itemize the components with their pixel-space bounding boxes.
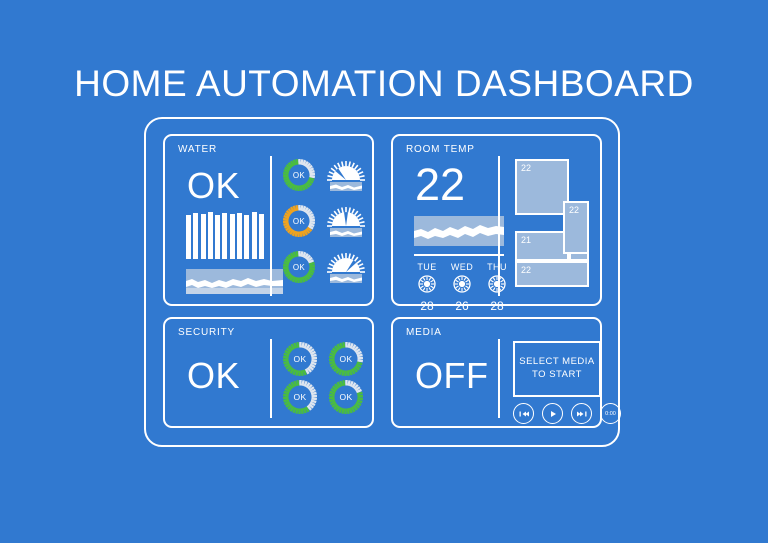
- water-bar: [222, 213, 227, 259]
- forecast-day: THU: [484, 262, 510, 272]
- water-dial-2-icon[interactable]: [325, 204, 367, 240]
- water-dial-1-icon[interactable]: [325, 158, 367, 194]
- gauge-label: OK: [328, 379, 364, 415]
- forecast-item: WED26: [449, 262, 475, 313]
- water-bar-chart: [186, 211, 264, 259]
- media-screen[interactable]: SELECT MEDIA TO START: [513, 341, 601, 397]
- panel-security[interactable]: SECURITY OK OKOKOKOK: [163, 317, 374, 428]
- water-bar: [186, 215, 191, 259]
- water-gauge-3[interactable]: OK: [282, 250, 316, 284]
- room-temp-hdivider: [414, 254, 504, 256]
- water-gauge-2[interactable]: OK: [282, 204, 316, 238]
- panel-room-temp[interactable]: ROOM TEMP 22 TUE28WED26THU28 22 22 22 21…: [391, 134, 602, 306]
- sun-icon: [449, 275, 475, 298]
- security-divider: [270, 339, 272, 418]
- room-center-small[interactable]: 22: [563, 201, 589, 254]
- water-bar: [215, 215, 220, 259]
- media-screen-text: SELECT MEDIA TO START: [515, 356, 599, 382]
- water-wave-svg: [186, 269, 283, 294]
- water-bar: [193, 213, 198, 259]
- media-status: OFF: [415, 358, 488, 394]
- panel-security-label: SECURITY: [178, 327, 235, 338]
- room-temp-divider: [498, 156, 500, 296]
- dashboard-frame: WATER OK OKOKOK ROOM TEMP 22 TUE28WE: [144, 117, 620, 447]
- room-bottom-strip[interactable]: 22: [515, 261, 589, 287]
- gauge-label: OK: [282, 250, 316, 284]
- forecast-item: THU28: [484, 262, 510, 313]
- water-divider: [270, 156, 272, 296]
- water-bar: [259, 214, 264, 259]
- elapsed-time-button[interactable]: 0:00: [600, 403, 621, 424]
- room-temp-floorplan[interactable]: 22 22 22 21 22: [515, 159, 589, 287]
- water-gauge-1[interactable]: OK: [282, 158, 316, 192]
- media-controls: 0:00: [513, 403, 621, 424]
- forecast-day: TUE: [414, 262, 440, 272]
- elapsed-time-label: 0:00: [605, 411, 616, 417]
- page-title: HOME AUTOMATION DASHBOARD: [0, 63, 768, 105]
- panel-media[interactable]: MEDIA OFF SELECT MEDIA TO START 0:00: [391, 317, 602, 428]
- panel-water[interactable]: WATER OK OKOKOK: [163, 134, 374, 306]
- next-track-button[interactable]: [571, 403, 592, 424]
- forecast-value: 28: [414, 299, 440, 313]
- gauge-label: OK: [282, 379, 318, 415]
- room-bottom-left[interactable]: 21: [515, 231, 569, 261]
- room-temp-wave-svg: [414, 216, 504, 246]
- security-status: OK: [187, 358, 240, 394]
- security-gauge-1[interactable]: OK: [282, 341, 318, 377]
- skip-back-icon: [518, 409, 530, 419]
- security-gauge-4[interactable]: OK: [328, 379, 364, 415]
- water-dial-3-icon[interactable]: [325, 250, 367, 286]
- play-icon: [548, 409, 558, 419]
- previous-track-button[interactable]: [513, 403, 534, 424]
- media-divider: [498, 339, 500, 418]
- security-gauge-3[interactable]: OK: [282, 379, 318, 415]
- panel-water-label: WATER: [178, 144, 217, 155]
- gauge-label: OK: [282, 204, 316, 238]
- room-temp-value: 22: [415, 162, 465, 207]
- room-temp-forecast: TUE28WED26THU28: [414, 262, 510, 313]
- security-gauge-2[interactable]: OK: [328, 341, 364, 377]
- panel-room-temp-label: ROOM TEMP: [406, 144, 475, 155]
- forecast-value: 26: [449, 299, 475, 313]
- forecast-item: TUE28: [414, 262, 440, 313]
- forecast-day: WED: [449, 262, 475, 272]
- gauge-label: OK: [282, 158, 316, 192]
- room-temp-wave-chart: [414, 216, 504, 246]
- water-status: OK: [187, 168, 240, 204]
- water-wave-chart: [186, 269, 283, 294]
- water-bar: [244, 215, 249, 259]
- sun-icon: [484, 275, 510, 298]
- skip-forward-icon: [576, 409, 588, 419]
- sun-icon: [414, 275, 440, 298]
- water-bar: [230, 214, 235, 259]
- water-bar: [208, 212, 213, 259]
- water-bar: [201, 214, 206, 259]
- gauge-label: OK: [282, 341, 318, 377]
- forecast-value: 28: [484, 299, 510, 313]
- water-bar: [237, 213, 242, 259]
- water-bar: [252, 212, 257, 259]
- room-top-left[interactable]: 22: [515, 159, 569, 215]
- play-button[interactable]: [542, 403, 563, 424]
- panel-media-label: MEDIA: [406, 327, 442, 338]
- gauge-label: OK: [328, 341, 364, 377]
